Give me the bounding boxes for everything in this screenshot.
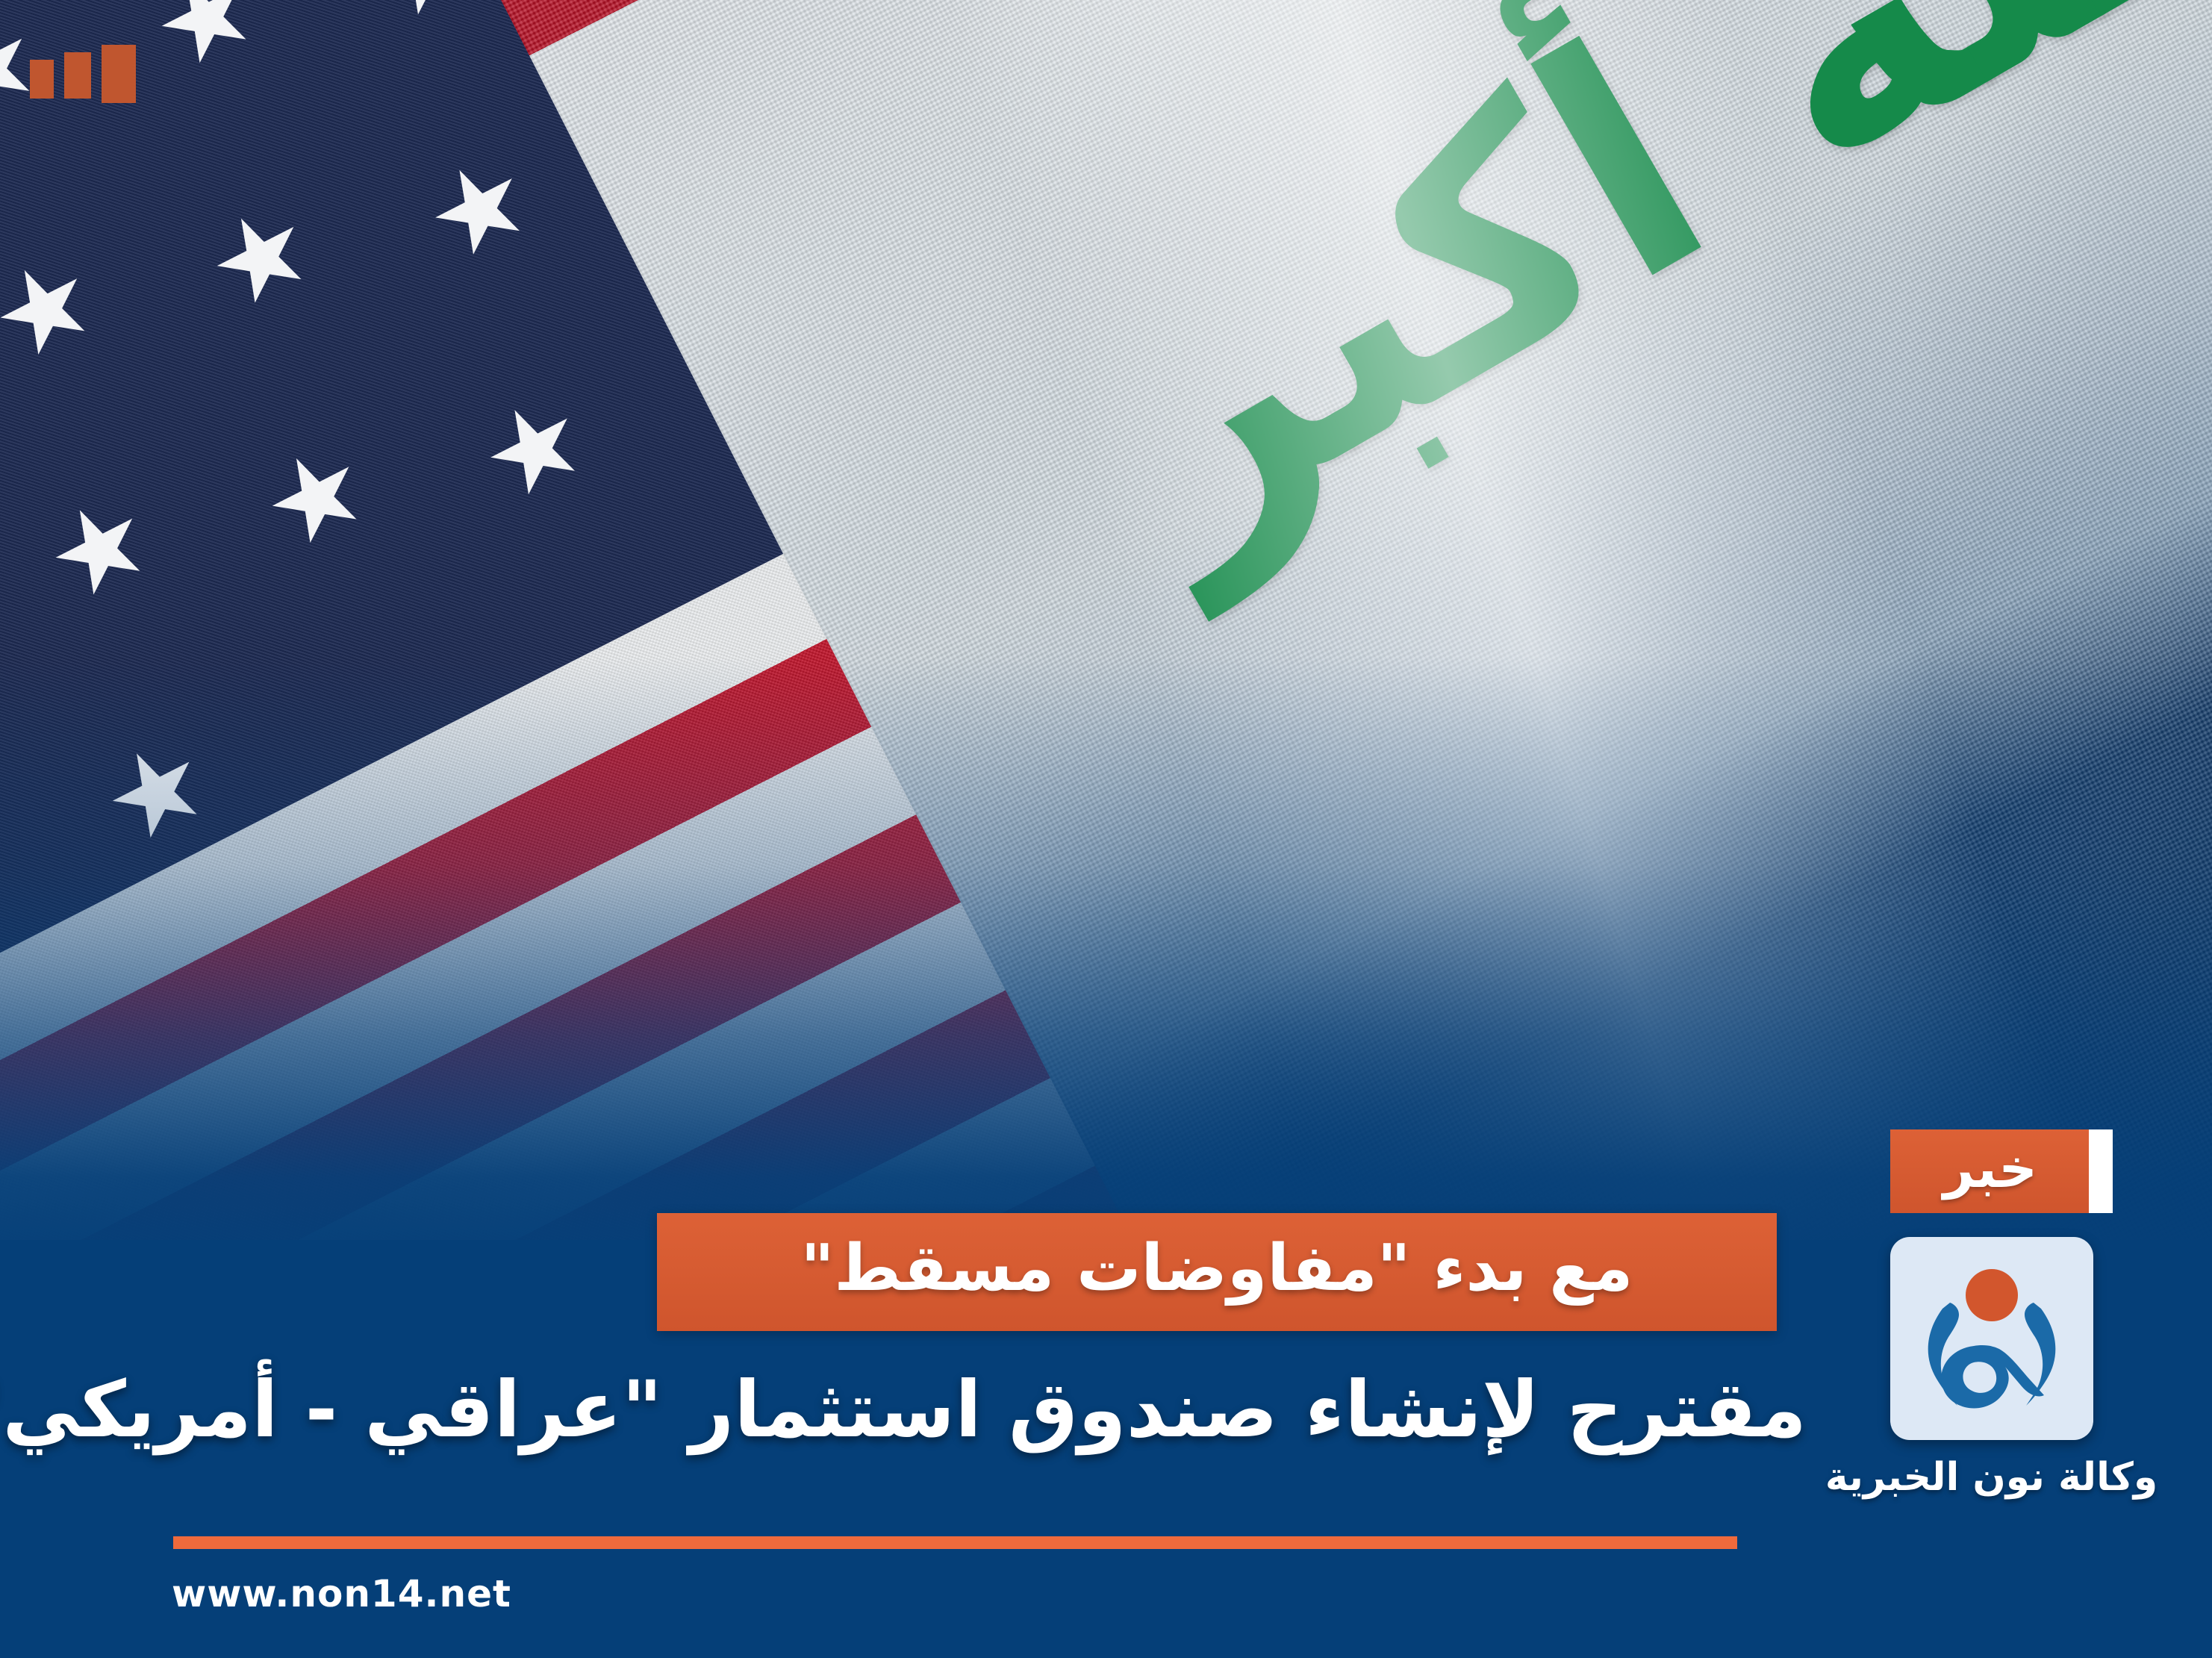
- page-title: مقترح لإنشاء صندوق استثمار "عراقي - أمري…: [90, 1366, 1807, 1453]
- kicker-badge: مع بدء "مفاوضات مسقط": [657, 1213, 1777, 1331]
- orange-divider: [173, 1536, 1737, 1549]
- kicker-label: مع بدء "مفاوضات مسقط": [801, 1236, 1633, 1308]
- website-url[interactable]: www.non14.net: [172, 1572, 511, 1615]
- badge-white-tab: [2089, 1129, 2113, 1213]
- brand-block: خبر وكالة نون الخبرية: [1878, 1129, 2105, 1497]
- watermark-bar-3: [30, 60, 54, 99]
- flags-photo: الله أكبر: [0, 0, 2212, 1269]
- noon-agency-logo-icon[interactable]: [1890, 1237, 2093, 1440]
- watermark-bar-1: [102, 45, 136, 103]
- news-card: الله أكبر مع بدء "مفاوضات مسقط" مقترح لإ…: [0, 0, 2212, 1658]
- three-bars-watermark-icon: [30, 45, 136, 103]
- badge-label: خبر: [1943, 1141, 2060, 1201]
- agency-name: وكالة نون الخبرية: [1825, 1458, 2158, 1497]
- watermark-bar-2: [64, 52, 91, 99]
- iraq-flag-script: الله أكبر: [1032, 0, 2212, 613]
- status-badge: خبر: [1890, 1129, 2113, 1213]
